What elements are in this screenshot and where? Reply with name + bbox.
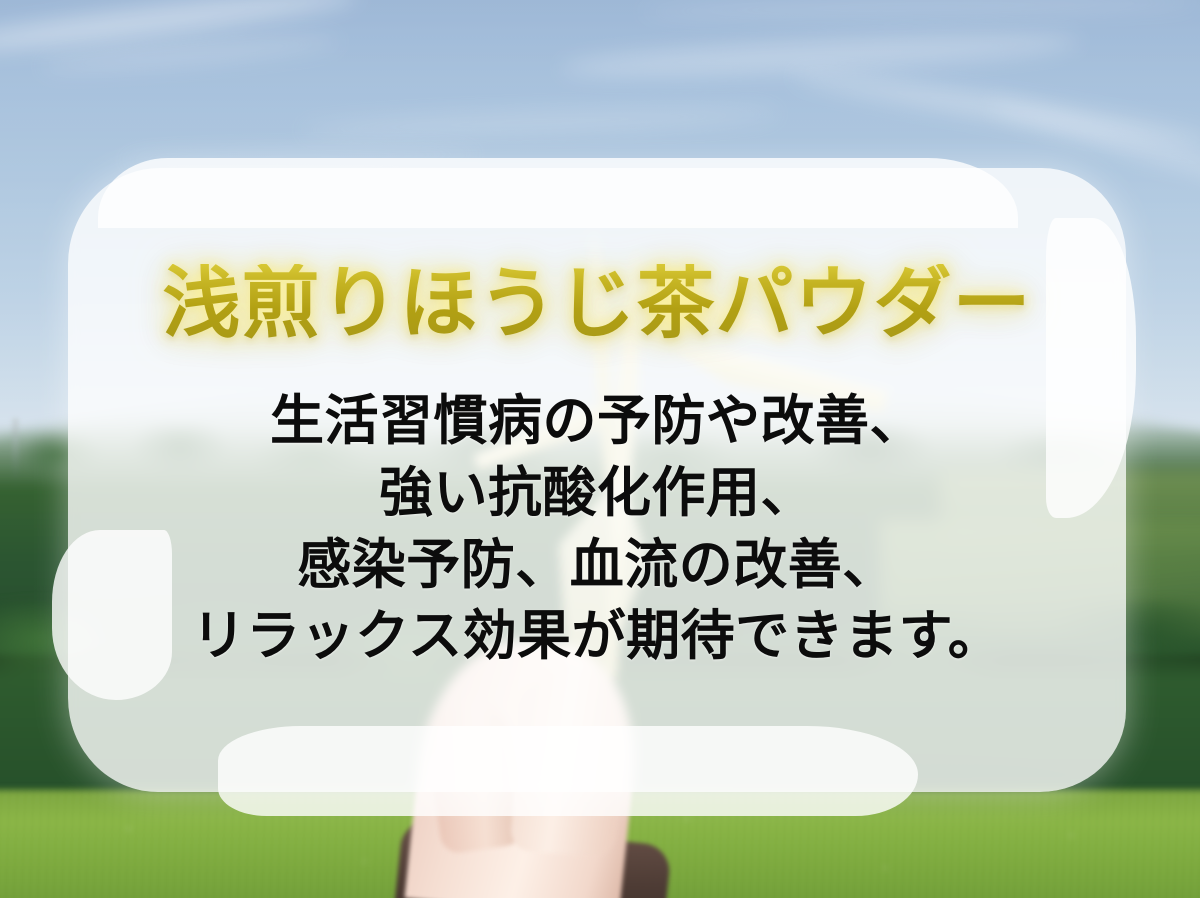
promo-banner: 浅煎りほうじ茶パウダー 生活習慣病の予防や改善、 強い抗酸化作用、 感染予防、血… (0, 0, 1200, 898)
benefit-line-2: 強い抗酸化作用、 (192, 458, 1002, 530)
benefits-paragraph: 生活習慣病の予防や改善、 強い抗酸化作用、 感染予防、血流の改善、 リラックス効… (192, 386, 1002, 673)
product-headline: 浅煎りほうじ茶パウダー (162, 264, 1031, 342)
benefit-line-3: 感染予防、血流の改善、 (192, 530, 1002, 602)
text-content: 浅煎りほうじ茶パウダー 生活習慣病の予防や改善、 強い抗酸化作用、 感染予防、血… (68, 168, 1126, 792)
benefit-line-4: リラックス効果が期待できます。 (192, 601, 1002, 673)
benefit-line-1: 生活習慣病の予防や改善、 (192, 386, 1002, 458)
